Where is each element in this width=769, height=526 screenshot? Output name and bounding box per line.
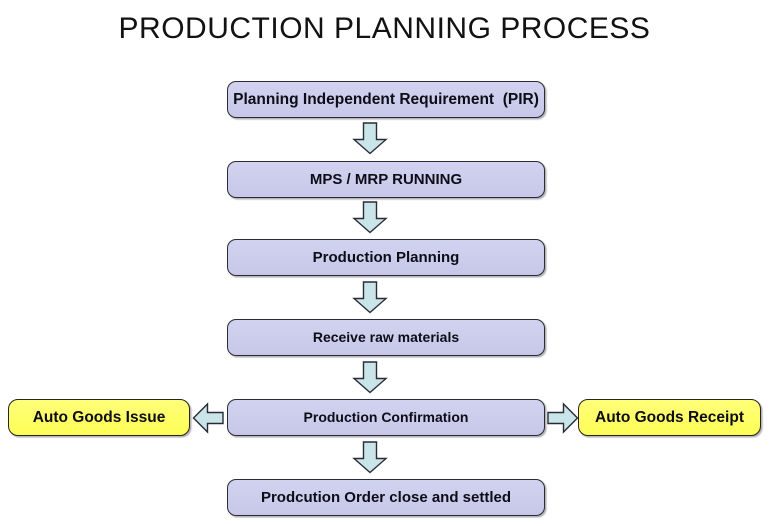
arrow-left-icon-confirmation-to-goods-issue	[192, 402, 225, 434]
arrow-down-icon-receive-to-confirmation	[352, 361, 388, 394]
flowchart-canvas: PRODUCTION PLANNING PROCESS Planning Ind…	[0, 0, 769, 526]
node-auto-goods-issue[interactable]: Auto Goods Issue	[8, 399, 190, 436]
arrow-down-icon-confirmation-to-close	[352, 441, 388, 474]
node-production-confirmation[interactable]: Production Confirmation	[227, 399, 545, 436]
arrow-down-icon-mps-to-production-planning	[352, 201, 388, 234]
node-auto-goods-receipt[interactable]: Auto Goods Receipt	[578, 399, 761, 436]
node-production-order-close-and-settled[interactable]: Prodcution Order close and settled	[227, 479, 545, 516]
arrow-down-icon-pir-to-mps	[352, 122, 388, 155]
node-planning-independent-requirement[interactable]: Planning Independent Requirement (PIR)	[227, 81, 545, 118]
page-title: PRODUCTION PLANNING PROCESS	[0, 12, 769, 46]
node-mps-mrp-running[interactable]: MPS / MRP RUNNING	[227, 161, 545, 198]
node-production-planning[interactable]: Production Planning	[227, 239, 545, 276]
node-receive-raw-materials[interactable]: Receive raw materials	[227, 319, 545, 356]
arrow-right-icon-confirmation-to-goods-receipt	[546, 402, 579, 434]
arrow-down-icon-production-planning-to-receive	[352, 281, 388, 314]
